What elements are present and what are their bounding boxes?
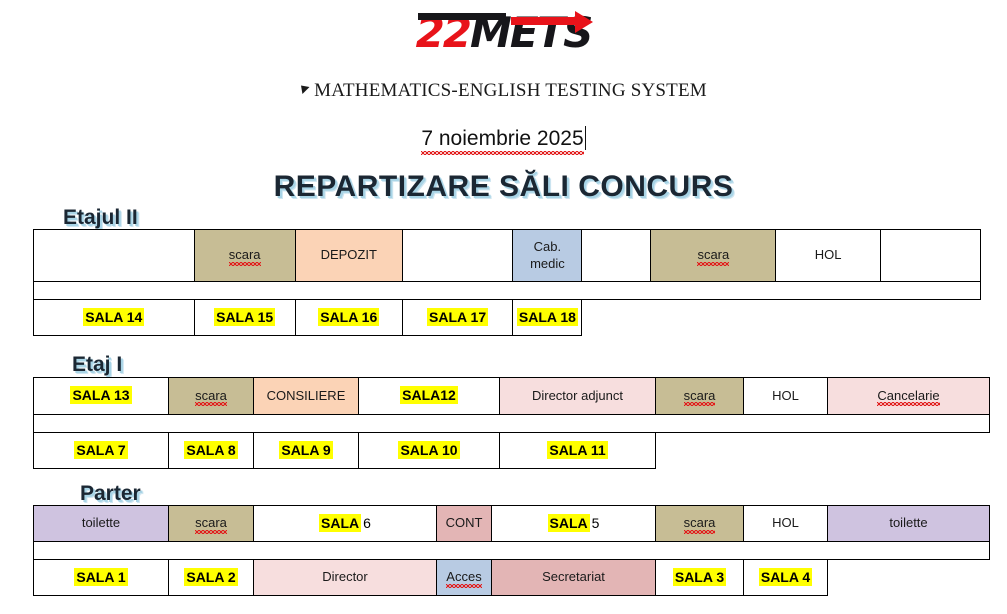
- table-spacer-cell: [34, 415, 990, 433]
- room-label-wrap: SALA 13: [70, 387, 131, 405]
- table-cell[interactable]: scara: [656, 506, 744, 542]
- table-row: scaraDEPOZITCab.medicscaraHOL: [34, 230, 981, 282]
- table-cell[interactable]: SALA6: [254, 506, 437, 542]
- spellcheck-squiggle-icon: [195, 402, 227, 406]
- room-label-wrap: SALA 3: [673, 569, 726, 587]
- table-cell[interactable]: SALA 8: [169, 433, 254, 469]
- room-label-wrap: Acces: [446, 569, 481, 585]
- table-cell[interactable]: SALA 3: [656, 560, 744, 596]
- date-value: 7 noiembrie 2025: [421, 127, 583, 151]
- room-label-wrap: SALA 10: [398, 442, 459, 460]
- room-label-wrap: SALA 17: [427, 309, 488, 327]
- table-cell[interactable]: SALA 15: [194, 300, 295, 336]
- room-label-wrap: SALA12: [400, 387, 458, 405]
- table-cell[interactable]: HOL: [744, 378, 828, 415]
- sala-label: SALA 9: [279, 441, 332, 459]
- subtitle-block: MATHEMATICS-ENGLISH TESTING SYSTEM: [0, 80, 1007, 102]
- table-cell[interactable]: SALA 13: [34, 378, 169, 415]
- table-cell[interactable]: Cancelarie: [828, 378, 990, 415]
- table-cell[interactable]: SALA 4: [744, 560, 828, 596]
- room-label-wrap: SALA 4: [759, 569, 812, 587]
- floor-table-1: scaraDEPOZITCab.medicscaraHOLSALA 14SALA…: [33, 229, 981, 336]
- table-spacer-row: [34, 542, 990, 560]
- table-cell[interactable]: SALA5: [492, 506, 656, 542]
- room-label-wrap: scara: [684, 388, 716, 404]
- sala-label: SALA 8: [184, 441, 237, 459]
- room-label-wrap: CONT: [446, 515, 483, 531]
- section-heading-1: Etajul II: [63, 206, 138, 230]
- sala-label: SALA 15: [214, 308, 275, 326]
- table-cell[interactable]: [881, 230, 981, 282]
- table-cell[interactable]: SALA12: [359, 378, 500, 415]
- table-cell[interactable]: DEPOZIT: [295, 230, 402, 282]
- subtitle-text: MATHEMATICS-ENGLISH TESTING SYSTEM: [314, 80, 707, 101]
- table-cell[interactable]: SALA 10: [359, 433, 500, 469]
- sala-label: SALA 16: [318, 308, 379, 326]
- table-cell[interactable]: HOL: [776, 230, 881, 282]
- table-cell[interactable]: SALA 18: [513, 300, 582, 336]
- table-cell[interactable]: SALA 9: [254, 433, 359, 469]
- room-label-wrap: SALA 16: [318, 309, 379, 327]
- room-label-wrap: SALA 2: [184, 569, 237, 587]
- table-cell[interactable]: SALA 7: [34, 433, 169, 469]
- room-label-wrap: scara: [195, 388, 227, 404]
- spellcheck-squiggle-icon: [697, 262, 729, 266]
- logo-wrap: 22METS: [416, 8, 592, 62]
- table-cell[interactable]: Director: [254, 560, 437, 596]
- table-cell[interactable]: Director adjunct: [500, 378, 656, 415]
- room-label-wrap: SALA 8: [184, 442, 237, 460]
- logo-arrow-tail-icon: [511, 17, 577, 25]
- table-cell[interactable]: toilette: [34, 506, 169, 542]
- table-cell[interactable]: toilette: [828, 506, 990, 542]
- table-cell[interactable]: scara: [169, 378, 254, 415]
- spellcheck-squiggle-icon: [421, 151, 583, 155]
- room-label-wrap: SALA 11: [547, 442, 607, 460]
- section-heading-3: Parter: [80, 482, 141, 506]
- sala-label: SALA 1: [74, 568, 127, 586]
- table-cell[interactable]: SALA 2: [169, 560, 254, 596]
- room-label-wrap: scara: [195, 515, 227, 531]
- date-string: 7 noiembrie 2025: [421, 127, 583, 150]
- subtitle-row: MATHEMATICS-ENGLISH TESTING SYSTEM: [300, 80, 707, 102]
- table-row: SALA 14SALA 15SALA 16SALA 17SALA 18: [34, 300, 981, 336]
- spellcheck-squiggle-icon: [877, 402, 939, 406]
- table-cell[interactable]: SALA 16: [295, 300, 402, 336]
- room-label-wrap: toilette: [889, 515, 927, 531]
- table-cell[interactable]: Acces: [437, 560, 492, 596]
- table-cell[interactable]: HOL: [744, 506, 828, 542]
- date-block: 7 noiembrie 2025: [0, 126, 1007, 151]
- table-row: SALA 1SALA 2DirectorAccesSecretariatSALA…: [34, 560, 990, 596]
- page-title: REPARTIZARE SĂLI CONCURS: [0, 170, 1007, 204]
- table-cell[interactable]: scara: [651, 230, 776, 282]
- floor-table-3: toilettescaraSALA6CONTSALA5scaraHOLtoile…: [33, 505, 990, 596]
- table-cell[interactable]: scara: [194, 230, 295, 282]
- room-label-wrap: SALA 14: [83, 309, 144, 327]
- room-label-wrap: SALA5: [548, 515, 600, 533]
- logo-arrow-icon: [575, 11, 593, 33]
- room-label-wrap: SALA 1: [74, 569, 127, 587]
- room-label-wrap: toilette: [82, 515, 120, 531]
- spellcheck-squiggle-icon: [446, 584, 481, 588]
- sala-label: SALA 7: [74, 441, 127, 459]
- page-title-text: REPARTIZARE SĂLI CONCURS: [274, 170, 734, 204]
- room-label-wrap: scara: [229, 247, 261, 263]
- table-cell[interactable]: SALA 1: [34, 560, 169, 596]
- table-spacer-row: [34, 282, 981, 300]
- room-label-wrap: SALA 15: [214, 309, 275, 327]
- text-caret: [585, 126, 586, 150]
- sala-number: 6: [361, 515, 371, 531]
- room-label-wrap: scara: [697, 247, 729, 263]
- sala-label: SALA 11: [547, 441, 607, 459]
- triangle-marker-icon: [298, 82, 310, 94]
- sala-number: 5: [590, 515, 600, 531]
- room-label-wrap: HOL: [772, 515, 799, 531]
- table-cell[interactable]: [34, 230, 195, 282]
- sala-label: SALA12: [400, 386, 458, 404]
- table-row: SALA 13scaraCONSILIERESALA12Director adj…: [34, 378, 990, 415]
- table-cell[interactable]: SALA 14: [34, 300, 195, 336]
- room-label-wrap: SALA 9: [279, 442, 332, 460]
- table-row: toilettescaraSALA6CONTSALA5scaraHOLtoile…: [34, 506, 990, 542]
- table-row: SALA 7SALA 8SALA 9SALA 10SALA 11: [34, 433, 990, 469]
- section-heading-text: Etaj I: [72, 353, 122, 377]
- room-label-wrap: SALA6: [319, 515, 371, 533]
- table-cell[interactable]: SALA 11: [500, 433, 656, 469]
- spellcheck-squiggle-icon: [684, 530, 716, 534]
- room-label-wrap: Cab.medic: [530, 239, 565, 272]
- sala-label: SALA 17: [427, 308, 488, 326]
- table-spacer-row: [34, 415, 990, 433]
- table-cell[interactable]: CONSILIERE: [254, 378, 359, 415]
- table-cell[interactable]: scara: [169, 506, 254, 542]
- date-text[interactable]: 7 noiembrie 2025: [421, 126, 585, 151]
- sala-label: SALA 2: [184, 568, 237, 586]
- sala-label: SALA 3: [673, 568, 726, 586]
- logo-bar-icon: [418, 13, 506, 20]
- table-cell[interactable]: Cab.medic: [513, 230, 582, 282]
- room-label-wrap: Cancelarie: [877, 388, 939, 404]
- room-label-wrap: DEPOZIT: [321, 247, 377, 263]
- table-cell[interactable]: [582, 230, 651, 282]
- table-cell[interactable]: CONT: [437, 506, 492, 542]
- spellcheck-squiggle-icon: [195, 530, 227, 534]
- room-label-wrap: SALA 7: [74, 442, 127, 460]
- table-cell[interactable]: SALA 17: [402, 300, 513, 336]
- sala-label: SALA 14: [83, 308, 144, 326]
- table-cell[interactable]: Secretariat: [492, 560, 656, 596]
- sala-label: SALA 13: [70, 386, 131, 404]
- room-label-wrap: scara: [684, 515, 716, 531]
- sala-label: SALA: [548, 514, 590, 532]
- room-label-wrap: Secretariat: [542, 569, 605, 585]
- floor-table-2: SALA 13scaraCONSILIERESALA12Director adj…: [33, 377, 990, 469]
- room-label-wrap: CONSILIERE: [267, 388, 346, 404]
- table-cell[interactable]: [402, 230, 513, 282]
- table-spacer-cell: [34, 282, 981, 300]
- room-label-wrap: HOL: [815, 247, 842, 263]
- spellcheck-squiggle-icon: [684, 402, 716, 406]
- room-label-wrap: Director: [322, 569, 368, 585]
- room-label-wrap: Director adjunct: [532, 388, 623, 404]
- sala-label: SALA: [319, 514, 361, 532]
- room-label-wrap: HOL: [772, 388, 799, 404]
- table-cell[interactable]: scara: [656, 378, 744, 415]
- table-spacer-cell: [34, 542, 990, 560]
- sala-label: SALA 18: [517, 308, 578, 326]
- section-heading-text: Etajul II: [63, 206, 138, 230]
- room-label-wrap: SALA 18: [517, 309, 578, 327]
- sala-label: SALA 10: [398, 441, 459, 459]
- sala-label: SALA 4: [759, 568, 812, 586]
- section-heading-2: Etaj I: [72, 353, 122, 377]
- section-heading-text: Parter: [80, 482, 141, 506]
- spellcheck-squiggle-icon: [229, 262, 261, 266]
- brand-logo: 22METS: [0, 8, 1007, 62]
